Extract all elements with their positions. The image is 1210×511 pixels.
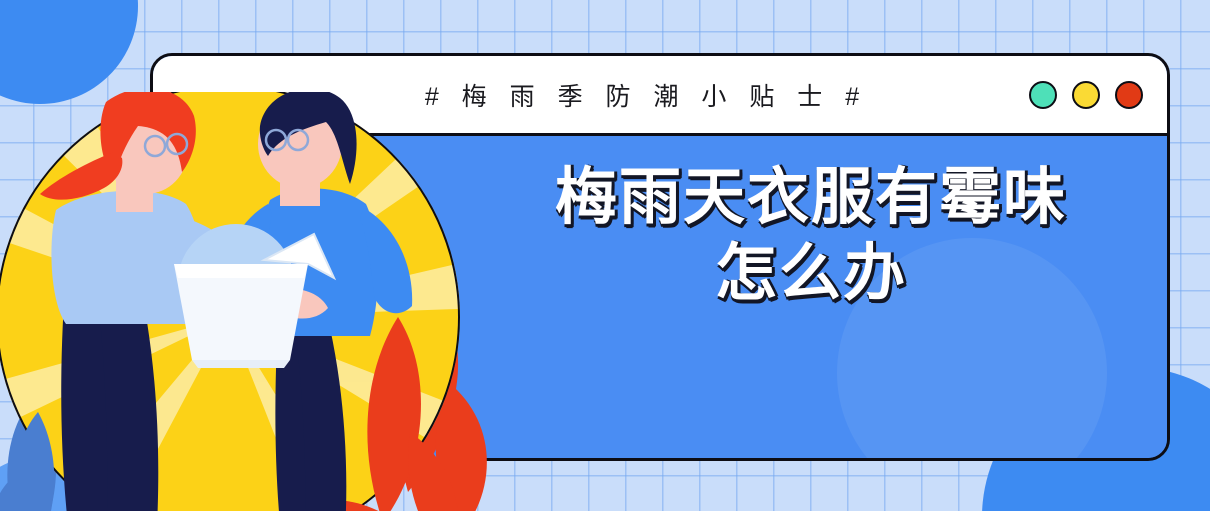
window-controls <box>1029 81 1143 109</box>
window-content-area: 梅雨天衣服有霉味 怎么办 <box>153 136 1167 458</box>
browser-window-card: # 梅 雨 季 防 潮 小 贴 士 # 梅雨天衣服有霉味 怎么办 <box>150 53 1170 461</box>
minimize-button[interactable] <box>1029 81 1057 109</box>
window-title-text: # 梅 雨 季 防 潮 小 贴 士 # <box>417 77 867 113</box>
headline-block: 梅雨天衣服有霉味 怎么办 <box>483 160 1139 311</box>
close-button[interactable] <box>1115 81 1143 109</box>
headline-line-2: 怎么办 <box>483 236 1139 312</box>
headline-line-1: 梅雨天衣服有霉味 <box>483 160 1139 236</box>
window-title-bar: # 梅 雨 季 防 潮 小 贴 士 # <box>153 56 1167 136</box>
maximize-button[interactable] <box>1072 81 1100 109</box>
poster-canvas: # 梅 雨 季 防 潮 小 贴 士 # 梅雨天衣服有霉味 怎么办 <box>0 0 1210 511</box>
